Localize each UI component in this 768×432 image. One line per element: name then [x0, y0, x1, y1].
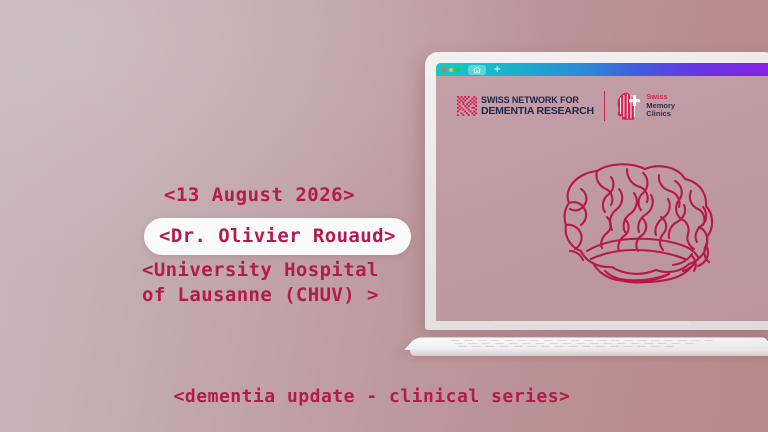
- swiss-network-logo-text: SWISS NETWORK FOR DEMENTIA RESEARCH: [481, 96, 594, 117]
- swiss-network-logo-line2: DEMENTIA RESEARCH: [481, 106, 594, 117]
- series-tagline: <dementia update - clinical series>: [0, 386, 744, 407]
- laptop-lid: +: [425, 52, 768, 330]
- laptop-base: [404, 324, 768, 364]
- browser-chrome-bar: +: [436, 63, 768, 76]
- slide-canvas: <13 August 2026> <Dr. Olivier Rouaud> <U…: [0, 0, 768, 432]
- close-window-icon[interactable]: [442, 68, 446, 72]
- qr-code-icon: [457, 96, 477, 116]
- smc-line3: Clinics: [646, 110, 675, 118]
- swiss-network-logo-line1: SWISS NETWORK FOR: [481, 96, 594, 105]
- maximize-window-icon[interactable]: [456, 68, 460, 72]
- swiss-network-dementia-research-logo: SWISS NETWORK FOR DEMENTIA RESEARCH: [457, 96, 594, 117]
- brain-illustration: [531, 159, 731, 299]
- home-icon: [473, 66, 481, 74]
- new-tab-button[interactable]: +: [493, 65, 501, 75]
- logo-divider: [604, 91, 605, 121]
- head-swiss-cross-icon: [615, 91, 641, 121]
- laptop-screen: +: [436, 63, 768, 321]
- browser-tab-active[interactable]: [468, 65, 486, 75]
- laptop-drop-shadow: [414, 355, 768, 361]
- event-date: <13 August 2026>: [164, 184, 355, 206]
- logo-row: SWISS NETWORK FOR DEMENTIA RESEARCH: [457, 91, 675, 121]
- window-controls: [442, 68, 460, 72]
- speaker-name: <Dr. Olivier Rouaud>: [159, 225, 396, 247]
- speaker-affiliation: <University Hospital of Lausanne (CHUV) …: [142, 258, 379, 309]
- minimize-window-icon[interactable]: [449, 68, 453, 72]
- speaker-name-pill: <Dr. Olivier Rouaud>: [144, 218, 411, 255]
- laptop-mockup: +: [404, 52, 768, 352]
- swiss-memory-clinics-logo: Swiss Memory Clinics: [615, 91, 675, 121]
- swiss-memory-clinics-text: Swiss Memory Clinics: [646, 93, 675, 118]
- speaker-info-column: <13 August 2026> <Dr. Olivier Rouaud> <U…: [0, 0, 400, 432]
